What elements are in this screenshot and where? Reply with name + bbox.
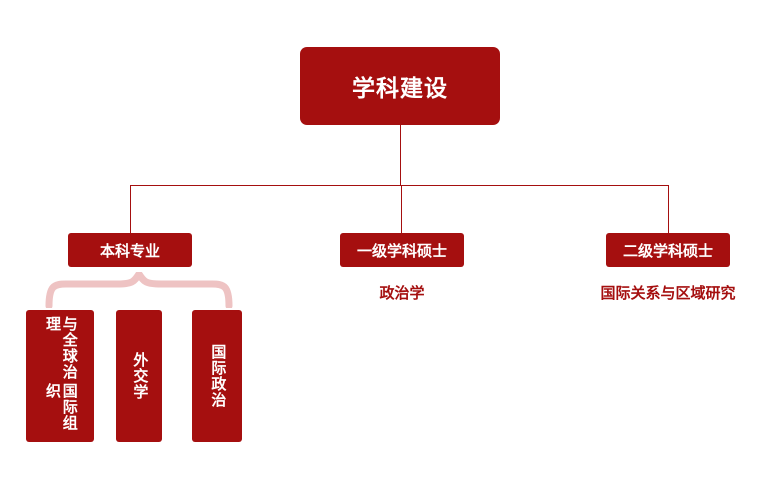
caption-international-relations-area-studies: 国际关系与区域研究	[560, 282, 773, 303]
node-major-international-politics: 国际政治	[192, 310, 242, 442]
org-chart-diagram: 学科建设 本科专业 一级学科硕士 二级学科硕士 政治学 国际关系与区域研究 与全…	[0, 0, 773, 497]
caption-political-science: 政治学	[340, 282, 464, 303]
node-undergraduate-program: 本科专业	[68, 233, 192, 267]
node-major-label-diplomacy: 外交学	[131, 352, 148, 400]
node-major-diplomacy: 外交学	[116, 310, 162, 442]
node-major-international-organization-global-governance: 与全球治理 国际组织	[26, 310, 94, 442]
node-first-level-master-label: 一级学科硕士	[357, 240, 447, 261]
node-major-label-global-governance: 与全球治理	[43, 316, 77, 383]
node-first-level-master: 一级学科硕士	[340, 233, 464, 267]
connector-horizontal-bus	[130, 185, 668, 186]
node-major-label-international-politics: 国际政治	[209, 344, 226, 408]
node-major-label-international-organization: 国际组织	[43, 383, 77, 436]
node-root-label: 学科建设	[352, 69, 448, 103]
brace-icon	[44, 272, 234, 308]
connector-drop-first-level-master	[401, 185, 402, 233]
node-second-level-master: 二级学科硕士	[606, 233, 730, 267]
node-root: 学科建设	[300, 47, 500, 125]
connector-drop-undergraduate	[130, 185, 131, 233]
connector-drop-second-level-master	[668, 185, 669, 233]
node-undergraduate-program-label: 本科专业	[100, 240, 160, 261]
connector-root-stem	[400, 125, 401, 185]
node-second-level-master-label: 二级学科硕士	[623, 240, 713, 261]
